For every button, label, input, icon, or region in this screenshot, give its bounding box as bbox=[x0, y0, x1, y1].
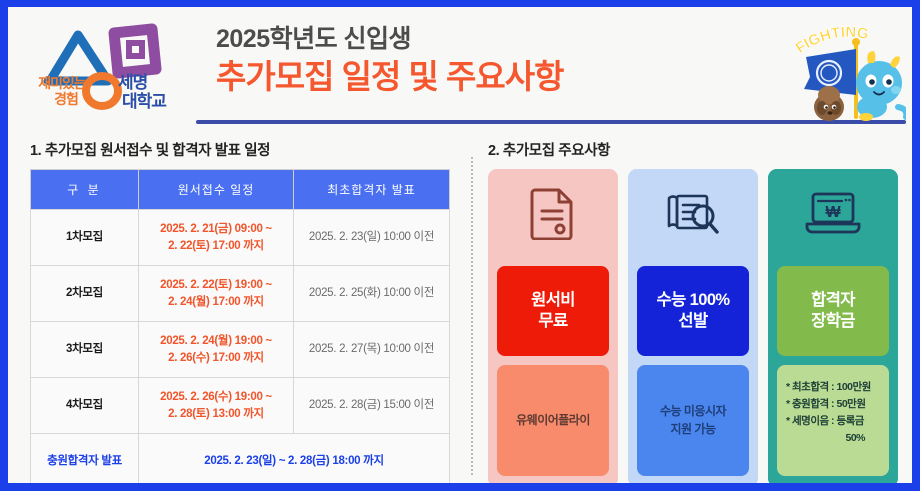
final-row-label: 충원합격자 발표 bbox=[31, 434, 139, 484]
row2-gubun: 2차모집 bbox=[31, 266, 139, 322]
logo-name-line2: 대학교 bbox=[122, 92, 194, 111]
logo-tagline-line2: 경험 bbox=[38, 91, 94, 107]
page-subtitle: 2025학년도 신입생 bbox=[216, 25, 686, 55]
card2-sub-line2: 지원 가능 bbox=[660, 421, 726, 438]
card1-sub-line1: 유웨이어플라이 bbox=[516, 412, 590, 429]
mascot-illustration: FIGHTING bbox=[786, 7, 906, 125]
row4-apply: 2025. 2. 26(수) 19:00 ~ 2. 28(토) 13:00 까지 bbox=[139, 378, 294, 434]
section1-title: 1. 추가모집 원서접수 및 합격자 발표 일정 bbox=[30, 139, 458, 160]
row3-gubun: 3차모집 bbox=[31, 322, 139, 378]
logo-tagline-line1: 재미있는 bbox=[30, 75, 94, 91]
won-symbol: ₩ bbox=[825, 204, 841, 221]
card2-body: 수능 100% 선발 수능 미응시자 지원 가능 bbox=[628, 257, 758, 483]
card1-main-line2: 무료 bbox=[531, 311, 575, 332]
logo-name-line1: 세명 bbox=[118, 73, 194, 92]
row1-announce: 2025. 2. 23(일) 10:00 이전 bbox=[294, 210, 450, 266]
title-block: 2025학년도 신입생 추가모집 일정 및 주요사항 bbox=[216, 25, 686, 96]
table-row-final: 충원합격자 발표 2025. 2. 23(일) ~ 2. 28(금) 18:00… bbox=[31, 434, 450, 484]
highlights-section: 2. 추가모집 주요사항 원서비 bbox=[488, 139, 898, 483]
card1-main-chip: 원서비 무료 bbox=[497, 266, 609, 356]
row4-apply-line2: 2. 28(토) 13:00 까지 bbox=[139, 406, 293, 423]
row4-apply-line1: 2025. 2. 26(수) 19:00 ~ bbox=[139, 389, 293, 406]
row2-apply: 2025. 2. 22(토) 19:00 ~ 2. 24(월) 17:00 까지 bbox=[139, 266, 294, 322]
table-header-row: 구 분 원서접수 일정 최초합격자 발표 bbox=[31, 170, 450, 210]
schedule-table: 구 분 원서접수 일정 최초합격자 발표 1차모집 2025. 2. 21(금)… bbox=[30, 169, 450, 483]
row1-apply-line2: 2. 22(토) 17:00 까지 bbox=[139, 238, 293, 255]
card3-icon-area: ₩ bbox=[768, 169, 898, 257]
table-row: 3차모집 2025. 2. 24(월) 19:00 ~ 2. 26(수) 17:… bbox=[31, 322, 450, 378]
card3-note-1: * 최초합격 : 100만원 bbox=[786, 379, 871, 396]
document-search-icon bbox=[665, 188, 721, 238]
row3-announce: 2025. 2. 27(목) 10:00 이전 bbox=[294, 322, 450, 378]
poster-sheet: 재미있는 경험 세명 대학교 2025학년도 신입생 추가모집 일정 및 주요사… bbox=[8, 7, 912, 483]
row2-apply-line1: 2025. 2. 22(토) 19:00 ~ bbox=[139, 277, 293, 294]
card1-icon-area bbox=[488, 169, 618, 257]
card1-main-line1: 원서비 bbox=[531, 290, 575, 311]
card3-note-2: * 충원합격 : 50만원 bbox=[786, 396, 865, 413]
row3-apply-line2: 2. 26(수) 17:00 까지 bbox=[139, 350, 293, 367]
column-header-gubun: 구 분 bbox=[31, 170, 139, 210]
mascot-graphic: FIGHTING bbox=[786, 7, 906, 125]
card3-main-line1: 합격자 bbox=[811, 290, 855, 311]
table-row: 2차모집 2025. 2. 22(토) 19:00 ~ 2. 24(월) 17:… bbox=[31, 266, 450, 322]
row4-gubun: 4차모집 bbox=[31, 378, 139, 434]
card2-main-chip: 수능 100% 선발 bbox=[637, 266, 749, 356]
card3-note-3: * 세명이음 : 등록금 bbox=[786, 413, 864, 430]
laptop-won-icon: ₩ bbox=[804, 189, 862, 237]
card1-sub-chip: 유웨이어플라이 bbox=[497, 365, 609, 476]
row1-apply: 2025. 2. 21(금) 09:00 ~ 2. 22(토) 17:00 까지 bbox=[139, 210, 294, 266]
card3-note-4: 50% bbox=[786, 430, 881, 447]
logo-university-name: 세명 대학교 bbox=[118, 73, 194, 111]
card1-body: 원서비 무료 유웨이어플라이 bbox=[488, 257, 618, 483]
table-row: 4차모집 2025. 2. 26(수) 19:00 ~ 2. 28(토) 13:… bbox=[31, 378, 450, 434]
row1-apply-line1: 2025. 2. 21(금) 09:00 ~ bbox=[139, 221, 293, 238]
table-row: 1차모집 2025. 2. 21(금) 09:00 ~ 2. 22(토) 17:… bbox=[31, 210, 450, 266]
card-scholarship: ₩ 합격자 장학금 * 최초합격 : 100만원 * 충원합격 : 50만원 bbox=[768, 169, 898, 483]
card2-sub-chip: 수능 미응시자 지원 가능 bbox=[637, 365, 749, 476]
row3-apply: 2025. 2. 24(월) 19:00 ~ 2. 26(수) 17:00 까지 bbox=[139, 322, 294, 378]
row2-announce: 2025. 2. 25(화) 10:00 이전 bbox=[294, 266, 450, 322]
row4-announce: 2025. 2. 28(금) 15:00 이전 bbox=[294, 378, 450, 434]
card3-body: 합격자 장학금 * 최초합격 : 100만원 * 충원합격 : 50만원 * 세… bbox=[768, 257, 898, 483]
card3-main-line2: 장학금 bbox=[811, 311, 855, 332]
card2-main-line1: 수능 100% bbox=[657, 290, 730, 311]
row1-gubun: 1차모집 bbox=[31, 210, 139, 266]
page-title: 추가모집 일정 및 주요사항 bbox=[216, 57, 686, 97]
column-divider bbox=[471, 157, 473, 475]
row3-apply-line1: 2025. 2. 24(월) 19:00 ~ bbox=[139, 333, 293, 350]
document-icon bbox=[529, 186, 577, 240]
card2-main-line2: 선발 bbox=[657, 311, 730, 332]
card3-main-chip: 합격자 장학금 bbox=[777, 266, 889, 356]
row2-apply-line2: 2. 24(월) 17:00 까지 bbox=[139, 294, 293, 311]
card3-notes: * 최초합격 : 100만원 * 충원합격 : 50만원 * 세명이음 : 등록… bbox=[777, 365, 889, 476]
card2-icon-area bbox=[628, 169, 758, 257]
section2-title: 2. 추가모집 주요사항 bbox=[488, 139, 898, 160]
final-row-value: 2025. 2. 23(일) ~ 2. 28(금) 18:00 까지 bbox=[139, 434, 450, 484]
card-application-fee: 원서비 무료 유웨이어플라이 bbox=[488, 169, 618, 483]
poster-background: 재미있는 경험 세명 대학교 2025학년도 신입생 추가모집 일정 및 주요사… bbox=[0, 0, 920, 491]
column-header-application-period: 원서접수 일정 bbox=[139, 170, 294, 210]
highlight-cards: 원서비 무료 유웨이어플라이 bbox=[488, 169, 898, 483]
schedule-section: 1. 추가모집 원서접수 및 합격자 발표 일정 구 분 원서접수 일정 최초합… bbox=[30, 139, 458, 483]
column-header-announcement: 최초합격자 발표 bbox=[294, 170, 450, 210]
header: 재미있는 경험 세명 대학교 2025학년도 신입생 추가모집 일정 및 주요사… bbox=[8, 7, 912, 129]
card-csat-selection: 수능 100% 선발 수능 미응시자 지원 가능 bbox=[628, 169, 758, 483]
card2-sub-line1: 수능 미응시자 bbox=[660, 403, 726, 420]
logo-tagline: 재미있는 경험 bbox=[30, 75, 94, 107]
university-logo: 재미있는 경험 세명 대학교 bbox=[30, 23, 195, 119]
